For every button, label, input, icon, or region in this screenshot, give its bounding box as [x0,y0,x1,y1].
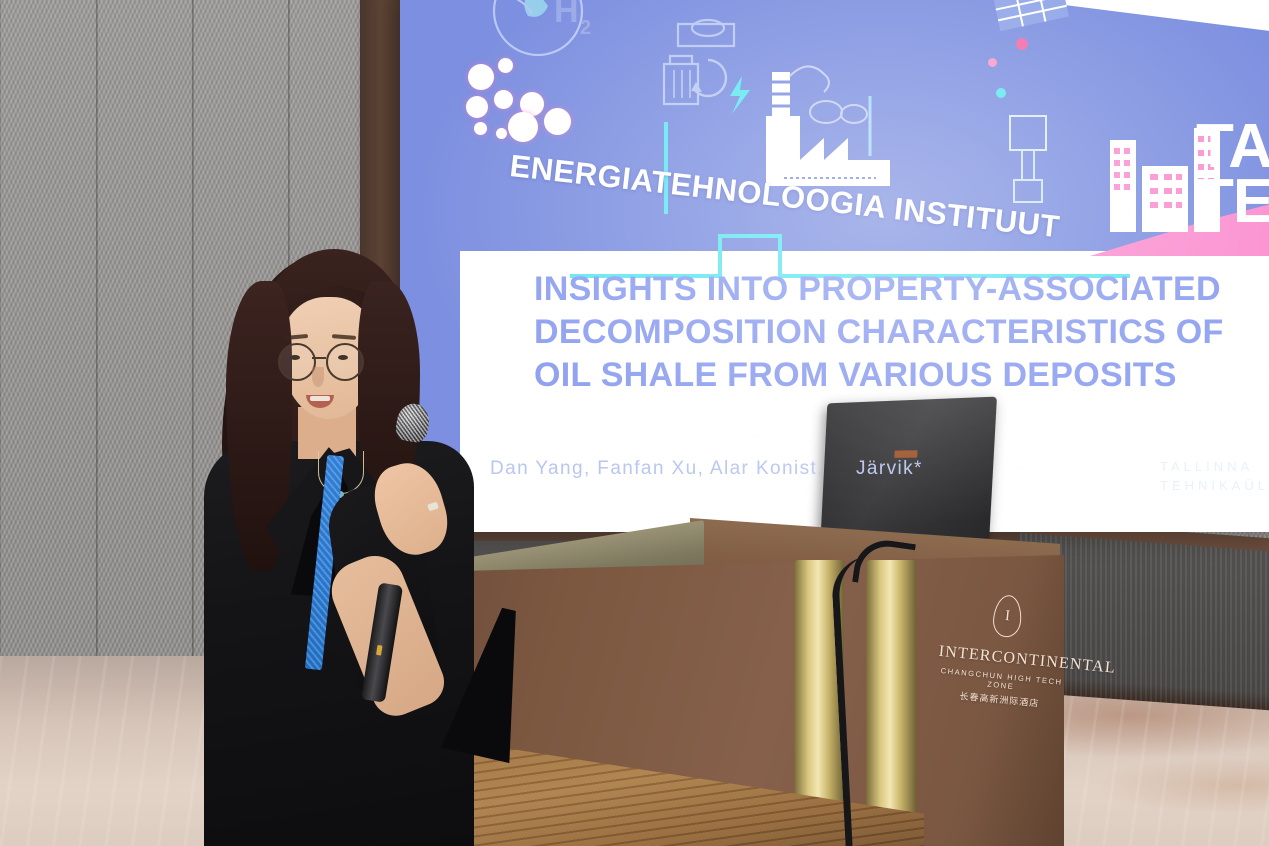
solar-panel-icon [978,0,1088,56]
university-line-1: TALLINNA [1160,458,1269,477]
slide-title-line-2: DECOMPOSITION CHARACTERISTICS OF [534,311,1269,354]
microphone-cable [830,554,916,846]
university-wordmark: TALLINNA TEHNIKAÜLIKOOL [1160,458,1269,496]
taltech-logo-line2: TEC [1196,175,1269,230]
intercontinental-monogram: I [992,594,1024,638]
svg-text:H: H [554,0,579,30]
nose [312,367,324,387]
conference-photo: H 2 [0,0,1269,846]
eyeglasses [278,343,382,377]
slide-authors-continued: Järvik* [856,458,923,480]
accent-dot [988,58,997,67]
accent-dot [996,88,1006,98]
university-line-2: TEHNIKAÜLIKOOL [1160,477,1269,496]
slide-authors: Dan Yang, Fanfan Xu, Alar Konist, [490,458,824,480]
glasses-bridge [312,357,326,359]
taltech-logo: TAL TEC [1196,120,1269,229]
slide-title-line-3: OIL SHALE FROM VARIOUS DEPOSITS [534,354,1269,397]
slide-title: INSIGHTS INTO PROPERTY-ASSOCIATED DECOMP… [534,268,1269,396]
glasses-lens-left [278,343,316,381]
speaker [200,255,480,846]
intercontinental-logo: I INTERCONTINENTAL CHANGCHUN HIGH TECH Z… [932,589,1074,736]
hydrogen-leaf-icon: H 2 [480,0,610,86]
microphone-head [394,401,432,444]
glasses-lens-right [326,343,364,381]
svg-text:2: 2 [580,17,591,39]
slide-title-line-1: INSIGHTS INTO PROPERTY-ASSOCIATED [534,268,1269,311]
accent-dot [1016,38,1028,50]
